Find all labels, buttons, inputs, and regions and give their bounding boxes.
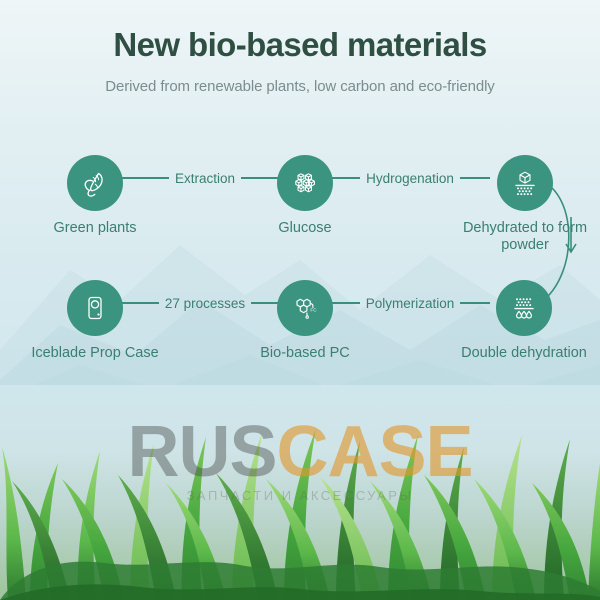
sugarcane-field-photo <box>0 385 600 600</box>
node-bio-based-pc[interactable]: FC Bio-based PC <box>245 280 365 362</box>
connector-label: Polymerization <box>360 296 461 311</box>
cube-powder-icon <box>509 167 541 199</box>
connector-label: Extraction <box>169 171 241 186</box>
page-title: New bio-based materials <box>0 26 600 64</box>
node-glucose[interactable]: Glucose <box>245 155 365 237</box>
connector-label: 27 processes <box>159 296 251 311</box>
node-label: Glucose <box>245 220 365 237</box>
page-subtitle: Derived from renewable plants, low carbo… <box>0 78 600 95</box>
process-flow-diagram: Extraction Hydrogenation Polymerization … <box>0 155 600 385</box>
node-icon-circle <box>496 280 552 336</box>
node-label: Double dehydration <box>448 345 600 362</box>
droplets-icon <box>508 292 540 324</box>
node-icon-circle <box>277 155 333 211</box>
sugar-cubes-icon <box>289 167 321 199</box>
node-double-dehydration[interactable]: Double dehydration <box>448 280 600 362</box>
node-label: Bio-based PC <box>245 345 365 362</box>
node-iceblade-prop-case[interactable]: Iceblade Prop Case <box>25 280 165 362</box>
node-icon-circle <box>67 280 123 336</box>
node-label: Iceblade Prop Case <box>25 345 165 362</box>
node-icon-circle: FC <box>277 280 333 336</box>
node-icon-circle <box>497 155 553 211</box>
node-label: Green plants <box>35 220 155 237</box>
node-dehydrated-powder[interactable]: Dehydrated to form powder <box>455 155 595 253</box>
corn-icon <box>79 167 111 199</box>
grass-blades <box>0 385 600 600</box>
phone-case-icon <box>79 292 111 324</box>
header: New bio-based materials Derived from ren… <box>0 26 600 95</box>
node-icon-circle <box>67 155 123 211</box>
svg-text:FC: FC <box>310 308 317 313</box>
node-label: Dehydrated to form powder <box>455 220 595 253</box>
node-green-plants[interactable]: Green plants <box>35 155 155 237</box>
molecule-icon: FC <box>289 292 321 324</box>
connector-label: Hydrogenation <box>360 171 460 186</box>
